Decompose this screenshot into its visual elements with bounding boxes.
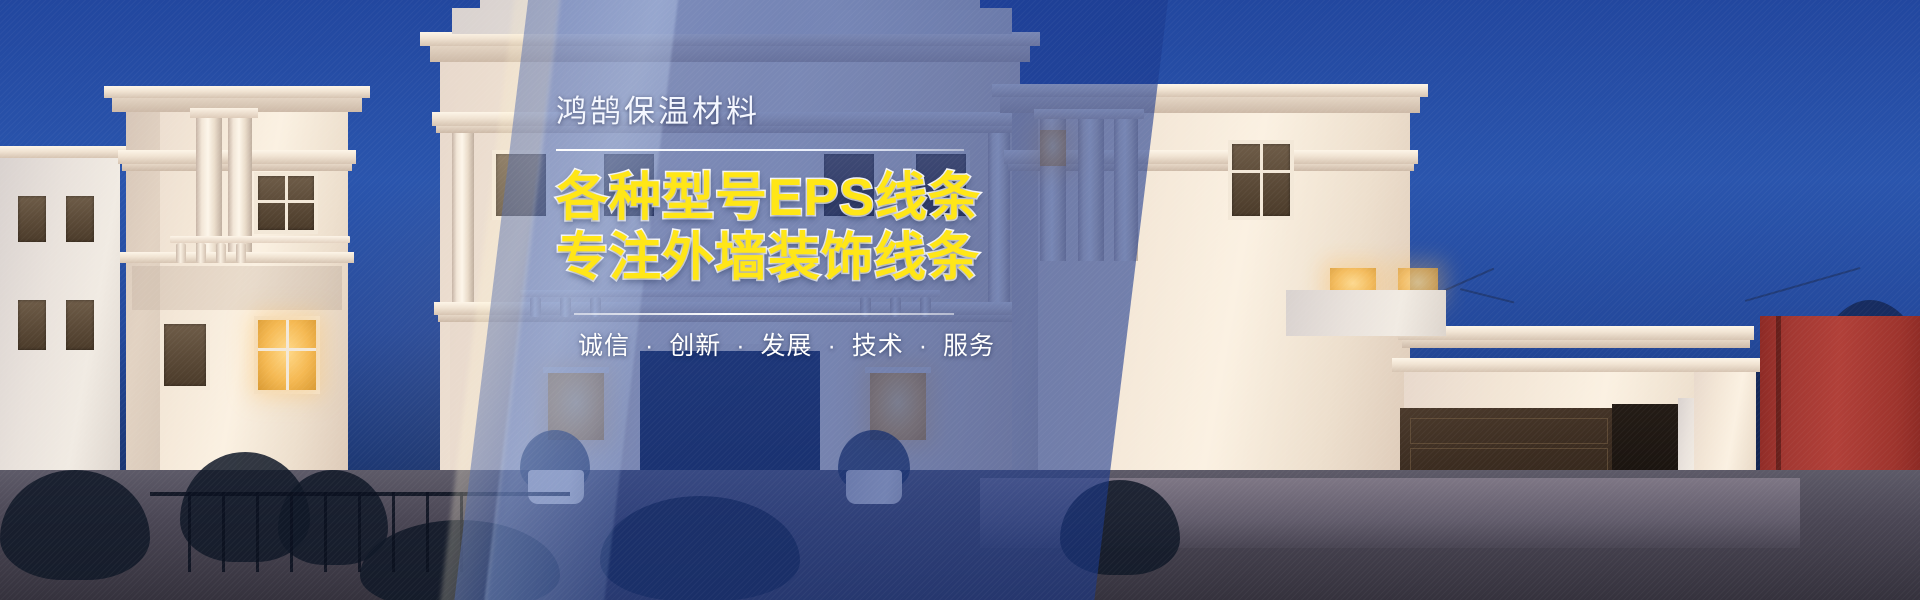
hero-text-block: 鸿鹄保温材料 各种型号EPS线条 专注外墙装饰线条 诚信 · 创新 · 发展 ·… <box>556 96 1026 361</box>
tagline-item: 技术 <box>852 332 904 360</box>
headline-line-2: 专注外墙装饰线条 <box>556 229 1026 287</box>
tagline-item: 发展 <box>761 332 813 360</box>
tagline-separator-icon: · <box>736 332 745 360</box>
fence-post <box>222 492 225 572</box>
right-wing-upper-attic <box>1286 290 1446 336</box>
window-mullion <box>1260 144 1263 216</box>
tagline-item: 诚信 <box>578 332 630 360</box>
pilaster <box>452 133 474 303</box>
right-wing-cornice-mid-lower <box>1402 340 1750 348</box>
garage-cornice <box>1392 358 1764 372</box>
tagline-item: 服务 <box>943 332 995 360</box>
balustrade-post <box>236 243 246 263</box>
fence-post <box>256 492 259 572</box>
window <box>66 300 94 350</box>
right-wing-cornice-mid <box>1398 326 1754 340</box>
left-wing-panel <box>132 266 342 310</box>
left-neighbor-cornice <box>0 146 126 158</box>
window-mullion <box>286 320 289 390</box>
column-capital <box>223 108 258 118</box>
window <box>18 300 46 350</box>
window-transom <box>258 348 316 351</box>
tagline-separator-icon: · <box>827 332 836 360</box>
fence-post <box>358 492 361 572</box>
column <box>228 112 252 252</box>
window <box>18 196 46 242</box>
divider-bottom <box>574 313 954 315</box>
fence-post <box>290 492 293 572</box>
garage-door-panel <box>1410 418 1608 444</box>
headline-line-1: 各种型号EPS线条 <box>556 169 1026 227</box>
left-wing-roof-edge <box>104 86 370 98</box>
window <box>164 324 206 386</box>
brand-name: 鸿鹄保温材料 <box>556 96 1026 127</box>
divider-top <box>556 149 964 151</box>
column <box>196 112 222 252</box>
fence-post <box>426 492 429 572</box>
window-transom <box>258 200 314 203</box>
balustrade-post <box>176 243 186 263</box>
fence-post <box>324 492 327 572</box>
window-mullion <box>285 176 288 230</box>
tagline-item: 创新 <box>669 332 721 360</box>
window-transom <box>1232 170 1290 173</box>
balustrade-rail <box>170 236 350 243</box>
fence-post <box>392 492 395 572</box>
tagline-separator-icon: · <box>919 332 928 360</box>
hero-banner: 鸿鹄保温材料 各种型号EPS线条 专注外墙装饰线条 诚信 · 创新 · 发展 ·… <box>0 0 1920 600</box>
fence-post <box>188 492 191 572</box>
balustrade-post <box>216 243 226 263</box>
tagline-separator-icon: · <box>645 332 654 360</box>
window <box>66 196 94 242</box>
balustrade-post <box>196 243 206 263</box>
tagline: 诚信 · 创新 · 发展 · 技术 · 服务 <box>578 331 1026 361</box>
